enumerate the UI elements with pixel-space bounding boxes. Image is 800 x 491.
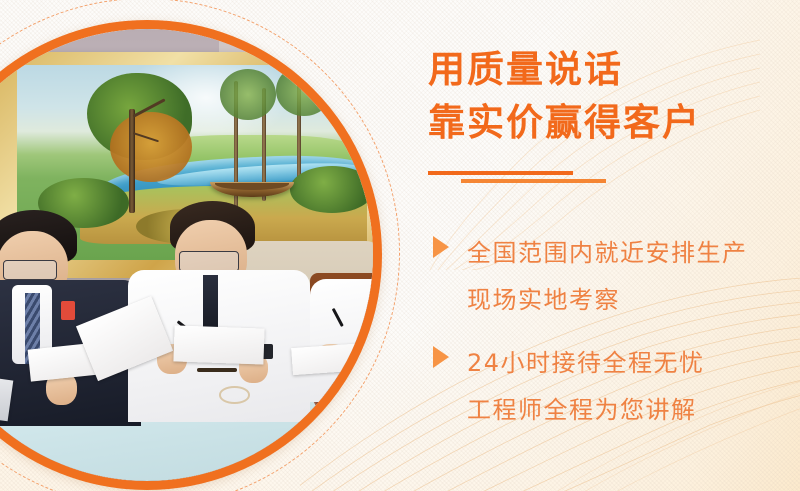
feature-item-1-line-2: 现场实地考察 [467, 277, 748, 324]
painting-boat-interior [215, 183, 289, 189]
divider-line-lower [461, 179, 606, 183]
painting-thin-tree-crown-1 [220, 69, 276, 120]
photo-orange-ring [0, 20, 382, 490]
person-suited-badge [61, 301, 75, 320]
person-right-shirt [310, 279, 373, 402]
triangle-right-icon [433, 236, 449, 258]
painting-bush-2 [290, 166, 367, 213]
document-3 [174, 326, 266, 365]
promo-banner: 用质量说话 靠实价赢得客户 全国范围内就近安排生产 现场实地考察 24小时接待全… [0, 0, 800, 491]
divider-line-upper [428, 171, 573, 175]
feature-item-2-text: 24小时接待全程无忧 工程师全程为您讲解 [467, 340, 705, 434]
headline-line-2: 靠实价赢得客户 [428, 100, 701, 146]
feature-item-2-line-1: 24小时接待全程无忧 [467, 340, 705, 387]
desk-pen [197, 368, 238, 372]
desk-ring-object [219, 386, 250, 404]
meeting-photo [0, 29, 373, 481]
hero-photo-container [0, 20, 382, 490]
headline-divider [428, 168, 628, 184]
person-white-shirt [138, 201, 301, 418]
person-suited-left [0, 210, 120, 418]
feature-item-1-text: 全国范围内就近安排生产 现场实地考察 [467, 230, 748, 324]
feature-item-1-line-1: 全国范围内就近安排生产 [467, 230, 748, 277]
person-right-partial [310, 264, 373, 418]
triangle-right-icon [433, 346, 449, 368]
painting-thin-tree-crown-2 [276, 65, 332, 116]
painting-tree-trunk [129, 109, 135, 213]
feature-item-2-line-2: 工程师全程为您讲解 [467, 387, 705, 434]
headline-line-1: 用质量说话 [428, 47, 623, 93]
person-white-glasses-icon [179, 251, 240, 273]
banner-content: 用质量说话 靠实价赢得客户 全国范围内就近安排生产 现场实地考察 24小时接待全… [425, 0, 800, 491]
person-suited-glasses-icon [3, 260, 57, 281]
painting-tree-crown-autumn [110, 112, 192, 182]
